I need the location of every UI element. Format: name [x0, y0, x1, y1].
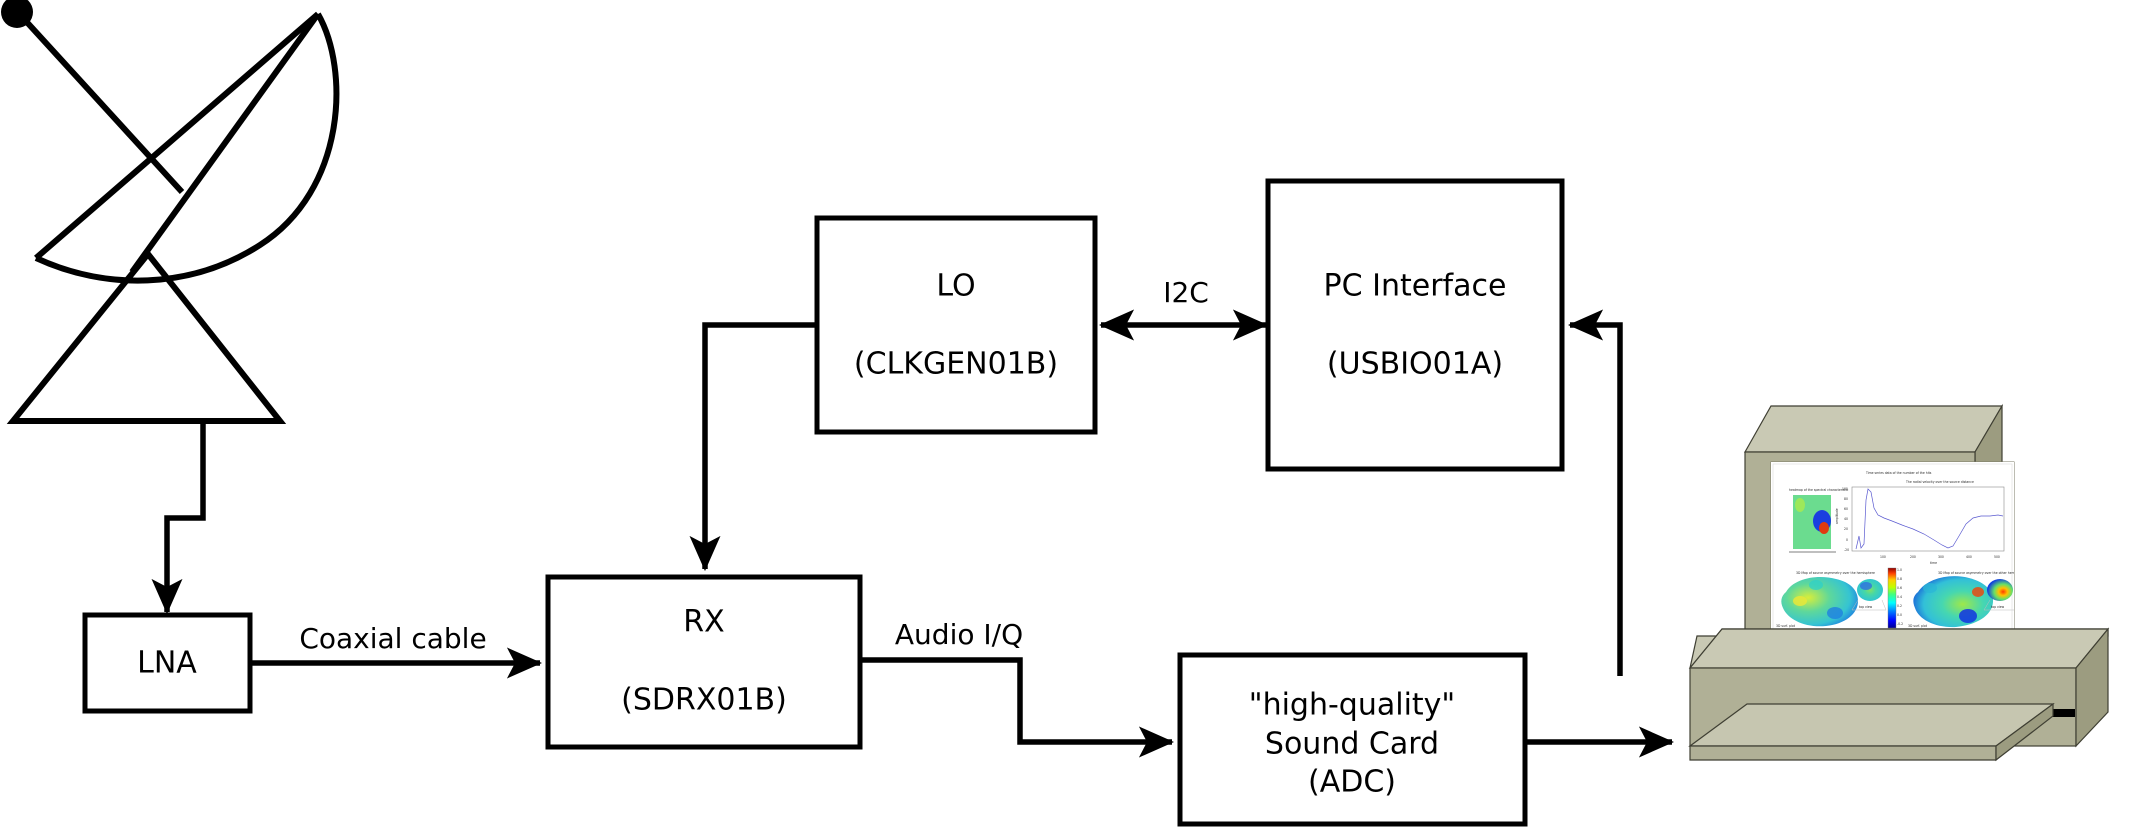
- plot-upper-left-heatmap: [1789, 495, 1836, 552]
- svg-text:60: 60: [1844, 507, 1848, 511]
- block-sound-card[interactable]: "high-quality" Sound Card (ADC): [1180, 655, 1525, 824]
- block-pc-interface[interactable]: PC Interface (USBIO01A): [1268, 181, 1562, 469]
- svg-text:0.2: 0.2: [1897, 604, 1902, 608]
- block-rx-rect[interactable]: [548, 577, 860, 747]
- plot-upper-left-title: heatmap of the spectral characteristic: [1789, 488, 1849, 492]
- svg-text:1.0: 1.0: [1897, 568, 1902, 572]
- diagram-canvas: LNA RX (SDRX01B) LO (CLKGEN01B) PC Inter…: [0, 0, 2137, 829]
- block-sound-card-label-line3: (ADC): [1308, 765, 1396, 800]
- block-lo-label-line2: (CLKGEN01B): [854, 347, 1058, 382]
- dish-mount-strut: [132, 14, 318, 272]
- block-lna-label: LNA: [137, 646, 197, 681]
- svg-text:-20: -20: [1844, 548, 1849, 552]
- block-lo-rect[interactable]: [817, 218, 1095, 432]
- svg-text:200: 200: [1910, 555, 1916, 559]
- svg-text:80: 80: [1844, 497, 1848, 501]
- wire-rx-to-soundcard: [860, 660, 1172, 742]
- svg-text:0.8: 0.8: [1897, 577, 1902, 581]
- block-lo[interactable]: LO (CLKGEN01B): [817, 218, 1095, 432]
- svg-text:100: 100: [1880, 555, 1886, 559]
- keyboard-top-face[interactable]: [1690, 704, 2053, 746]
- svg-text:0.6: 0.6: [1897, 586, 1902, 590]
- svg-text:top view: top view: [1859, 605, 1873, 609]
- svg-text:400: 400: [1966, 555, 1972, 559]
- edge-label-audio-iq: Audio I/Q: [895, 618, 1023, 651]
- block-sound-card-label-line2: Sound Card: [1265, 727, 1439, 762]
- svg-text:300: 300: [1938, 555, 1944, 559]
- svg-text:top view: top view: [1991, 605, 2005, 609]
- keyboard-front-edge: [1690, 746, 1996, 760]
- svg-text:3D surf. plot: 3D surf. plot: [1908, 624, 1928, 628]
- svg-text:500: 500: [1994, 555, 2000, 559]
- edge-label-i2c: I2C: [1163, 276, 1209, 309]
- block-pc-interface-label-line1: PC Interface: [1324, 269, 1507, 304]
- monitor-top-face: [1745, 406, 2002, 452]
- svg-text:20: 20: [1844, 527, 1848, 531]
- wire-antenna-to-lna: [167, 421, 203, 612]
- svg-text:time: time: [1930, 561, 1937, 565]
- svg-text:40: 40: [1844, 517, 1848, 521]
- block-rx-label-line2: (SDRX01B): [621, 683, 787, 718]
- block-pc-interface-rect[interactable]: [1268, 181, 1562, 469]
- desktop-computer[interactable]: Time series data of the number of the hi…: [1690, 406, 2108, 760]
- plot-lower-left-title: 3D Map of source asymmetry over the hemi…: [1796, 571, 1875, 575]
- wire-pc-to-pcinterface: [1570, 325, 1620, 676]
- dish-front-edge: [36, 14, 318, 258]
- svg-text:0.4: 0.4: [1897, 595, 1902, 599]
- block-pc-interface-label-line2: (USBIO01A): [1327, 347, 1503, 382]
- svg-text:100: 100: [1842, 487, 1848, 491]
- case-top-face-2: [1690, 629, 2108, 668]
- wire-lo-to-rx: [705, 325, 817, 569]
- plot-subtitle: The radial velocity over the source dist…: [1905, 480, 1974, 484]
- svg-text:3D surf. plot: 3D surf. plot: [1776, 624, 1796, 628]
- svg-text:-0.2: -0.2: [1897, 622, 1903, 626]
- block-rx[interactable]: RX (SDRX01B): [548, 577, 860, 747]
- block-rx-label-line1: RX: [683, 605, 724, 640]
- svg-text:0: 0: [1846, 538, 1848, 542]
- plot-title: Time series data of the number of the hi…: [1865, 471, 1932, 475]
- svg-text:0.0: 0.0: [1897, 613, 1902, 617]
- block-lna[interactable]: LNA: [85, 615, 250, 711]
- svg-text:amplitude: amplitude: [1835, 508, 1839, 524]
- screen-plot-figure: Time series data of the number of the hi…: [1771, 462, 2026, 634]
- antenna-feed-arm: [24, 19, 182, 192]
- block-lo-label-line1: LO: [936, 269, 975, 304]
- edge-label-coaxial-cable: Coaxial cable: [299, 622, 486, 655]
- block-sound-card-label-line1: "high-quality": [1249, 688, 1455, 723]
- plot-lower-right-title: 3D Map of source asymmetry over the othe…: [1938, 571, 2026, 575]
- block-diagram-svg: LNA RX (SDRX01B) LO (CLKGEN01B) PC Inter…: [0, 0, 2137, 829]
- parabolic-dish-antenna: [1, 0, 336, 421]
